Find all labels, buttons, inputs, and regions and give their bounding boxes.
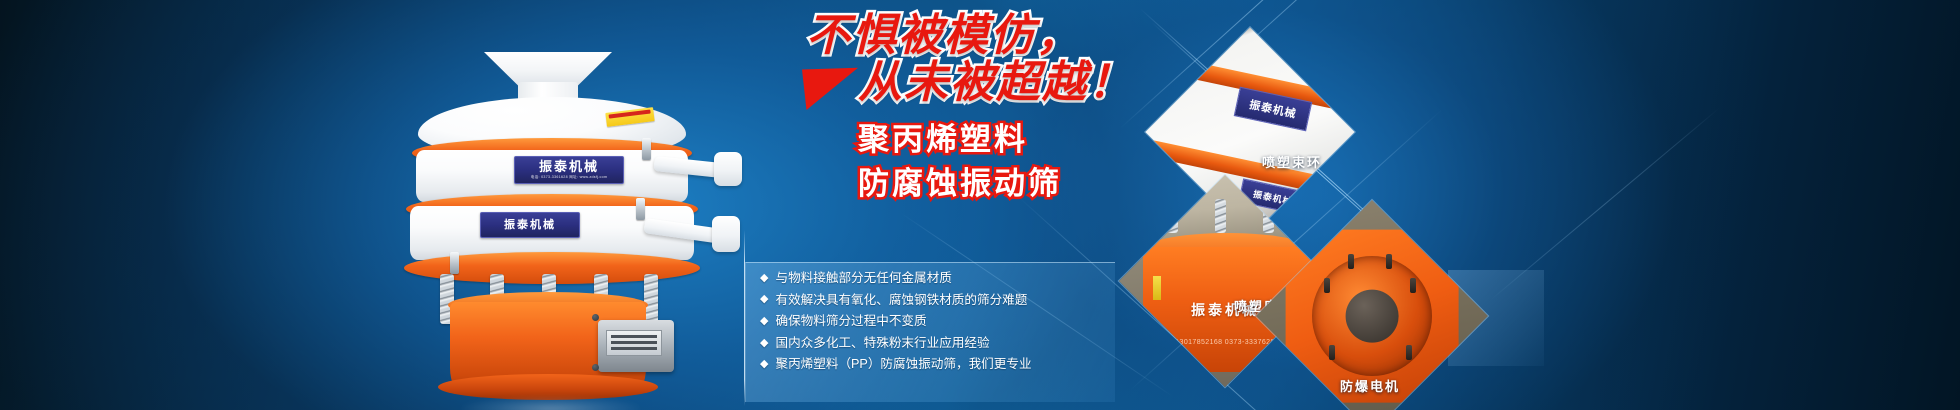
base-frame-phone-text: 13017852168 0373-3337628 <box>1175 339 1275 346</box>
feature-item: ◆ 与物料接触部分无任何金属材质 <box>760 272 1115 285</box>
headline-line-1: 不惧被模仿， <box>806 14 1134 59</box>
discharge-spout-lower-outlet <box>712 216 740 252</box>
headline-line-2: 从未被超越！ <box>858 61 1134 106</box>
panel-spring-2 <box>1215 199 1226 233</box>
product-brand-label-upper: 振泰机械 电话: 0373-3361628 网址: www.zdsfj.com <box>514 156 624 184</box>
motor-pin-3 <box>1410 278 1416 293</box>
feature-item-label: 与物料接触部分无任何金属材质 <box>775 272 951 285</box>
diamond-bullet-icon: ◆ <box>760 294 768 305</box>
ring-clamp-3 <box>450 252 459 274</box>
photo-panel-1-caption: 喷塑束环 <box>1262 152 1322 171</box>
subtitle-block-2: 防腐蚀振动筛 <box>858 168 1062 201</box>
diamond-bullet-icon: ◆ <box>760 273 768 284</box>
motor-bolt-2 <box>592 364 599 371</box>
brand-label-text: 振泰机械 <box>539 160 599 173</box>
feature-panel: ◆ 与物料接触部分无任何金属材质 ◆ 有效解决具有氧化、腐蚀钢铁材质的筛分难题 … <box>745 262 1115 402</box>
subtitle-line-2: 防腐蚀振动筛 <box>858 168 1062 201</box>
feature-item: ◆ 国内众多化工、特殊粉末行业应用经验 <box>760 337 1115 350</box>
panel-spring-1 <box>1167 199 1178 233</box>
product-brand-label-lower: 振泰机械 <box>480 212 580 238</box>
photo-panel-3-caption: 防爆电机 <box>1340 376 1400 395</box>
feature-item-label: 国内众多化工、特殊粉末行业应用经验 <box>775 337 989 350</box>
motor-pin-4 <box>1324 278 1330 293</box>
headline-block: 不惧被模仿， 从未被超越！ <box>806 14 1134 106</box>
ring-clamp-2 <box>636 198 645 220</box>
spring-5 <box>644 274 658 324</box>
product-reflection <box>462 396 640 410</box>
feature-item: ◆ 确保物料筛分过程中不变质 <box>760 315 1115 328</box>
subtitle-block-1: 聚丙烯塑料 <box>858 124 1028 157</box>
brand-label-text-2: 振泰机械 <box>504 220 556 231</box>
motor-nameplate <box>606 330 662 356</box>
subtitle-line-1: 聚丙烯塑料 <box>858 124 1028 157</box>
ring-clamp-1 <box>642 138 651 160</box>
feature-item-label: 聚丙烯塑料（PP）防腐蚀振动筛，我们更专业 <box>775 358 1031 371</box>
motor-bolt-1 <box>592 314 599 321</box>
base-frame-yellow-tag <box>1153 276 1161 300</box>
feature-item-label: 有效解决具有氧化、腐蚀钢铁材质的筛分难题 <box>775 294 1027 307</box>
motor-pin-6 <box>1329 345 1335 360</box>
diamond-bullet-icon: ◆ <box>760 338 768 349</box>
promo-banner: 振泰机械 电话: 0373-3361628 网址: www.zdsfj.com … <box>0 0 1960 410</box>
motor-pin-2 <box>1386 254 1392 269</box>
diamond-bullet-icon: ◆ <box>760 359 768 370</box>
product-motor <box>598 320 674 372</box>
discharge-spout-upper-outlet <box>714 152 742 186</box>
product-hopper <box>484 52 612 86</box>
motor-hub <box>1346 290 1399 343</box>
brand-label-subtext: 电话: 0373-3361628 网址: www.zdsfj.com <box>531 175 608 180</box>
motor-pin-1 <box>1348 254 1354 269</box>
feature-item-label: 确保物料筛分过程中不变质 <box>775 315 926 328</box>
diamond-bullet-icon: ◆ <box>760 316 768 327</box>
product-vibrating-screen: 振泰机械 电话: 0373-3361628 网址: www.zdsfj.com … <box>392 52 722 410</box>
feature-item: ◆ 有效解决具有氧化、腐蚀钢铁材质的筛分难题 <box>760 294 1115 307</box>
feature-item: ◆ 聚丙烯塑料（PP）防腐蚀振动筛，我们更专业 <box>760 358 1115 371</box>
motor-pin-5 <box>1406 345 1412 360</box>
